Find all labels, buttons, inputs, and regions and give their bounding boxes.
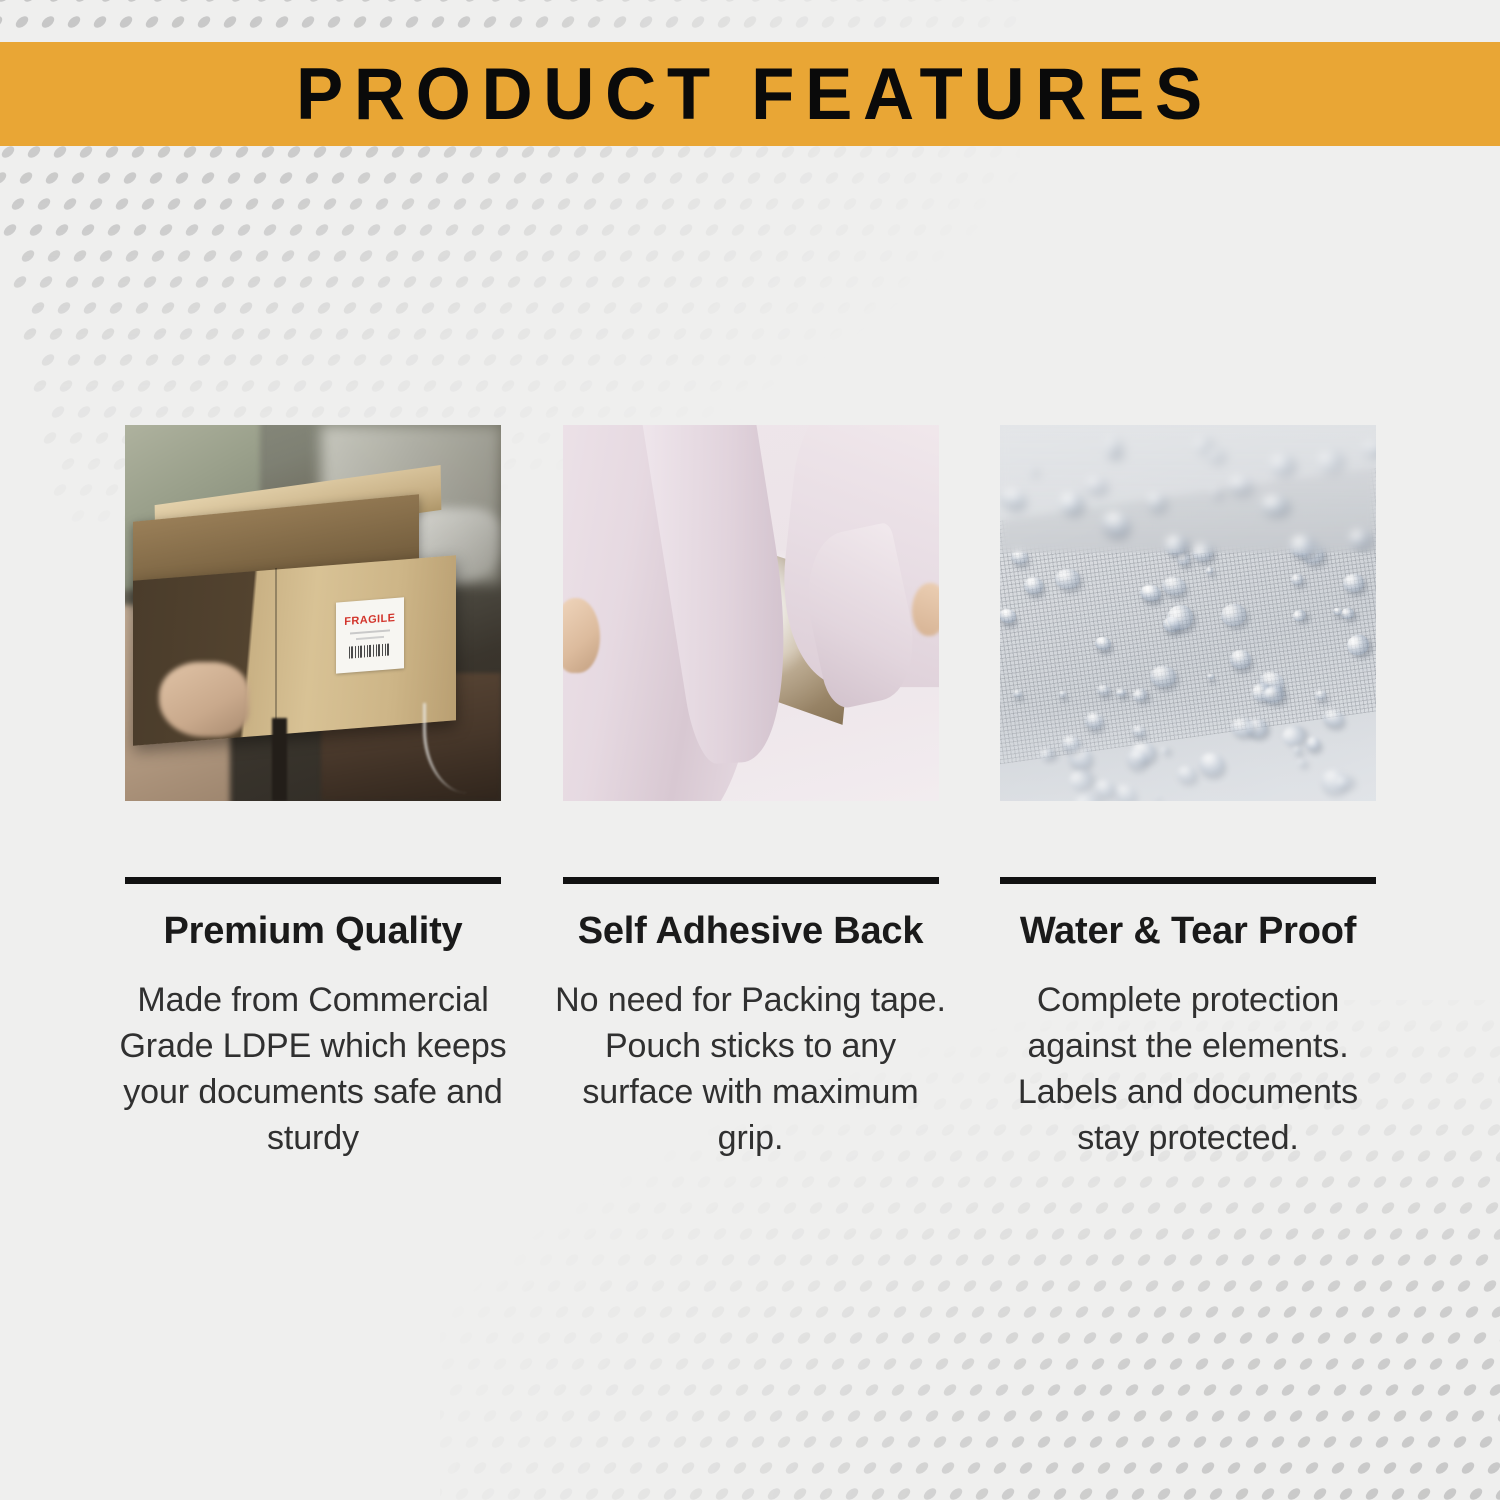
feature-column-premium-quality: FRAGILE Premium Quality Made from Commer… xyxy=(125,425,501,1161)
fragile-shipping-label: FRAGILE xyxy=(336,597,404,674)
feature-body: Complete protection against the elements… xyxy=(1000,977,1376,1161)
feature-image-water-tear-proof xyxy=(1000,425,1376,801)
feature-heading: Water & Tear Proof xyxy=(1020,911,1356,953)
feature-image-self-adhesive-back xyxy=(563,425,939,801)
feature-divider xyxy=(125,877,501,884)
feature-divider xyxy=(563,877,939,884)
feature-image-premium-quality: FRAGILE xyxy=(125,425,501,801)
feature-column-water-tear-proof: Water & Tear Proof Complete protection a… xyxy=(1000,425,1376,1161)
header-banner: PRODUCT FEATURES xyxy=(0,42,1500,146)
barcode-icon xyxy=(348,643,390,658)
feature-column-self-adhesive-back: Self Adhesive Back No need for Packing t… xyxy=(563,425,939,1161)
infographic-canvas: PRODUCT FEATURES FRAGILE xyxy=(0,0,1500,1500)
feature-divider xyxy=(1000,877,1376,884)
page-title: PRODUCT FEATURES xyxy=(287,58,1214,131)
fragile-label-text: FRAGILE xyxy=(344,613,395,628)
feature-body: No need for Packing tape. Pouch sticks t… xyxy=(549,977,953,1161)
feature-columns: FRAGILE Premium Quality Made from Commer… xyxy=(125,425,1376,1161)
feature-heading: Premium Quality xyxy=(164,911,463,953)
feature-body: Made from Commercial Grade LDPE which ke… xyxy=(111,977,515,1161)
feature-heading: Self Adhesive Back xyxy=(578,911,924,953)
